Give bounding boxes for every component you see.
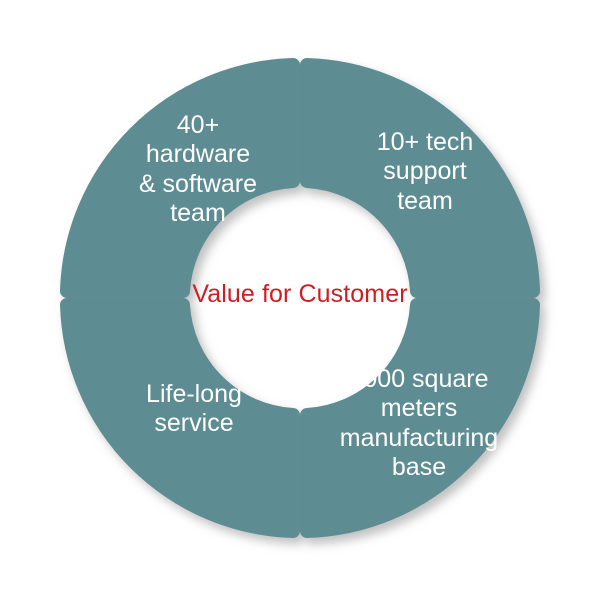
donut-diagram: 40+ hardware & software team 10+ tech su… xyxy=(0,0,600,600)
segment-top-right-shape[interactable] xyxy=(307,65,533,291)
donut-ring-graphic xyxy=(0,0,600,600)
segment-bottom-left-shape[interactable] xyxy=(67,305,293,531)
segment-bottom-right-shape[interactable] xyxy=(307,305,533,531)
segment-top-left-shape[interactable] xyxy=(67,65,293,291)
